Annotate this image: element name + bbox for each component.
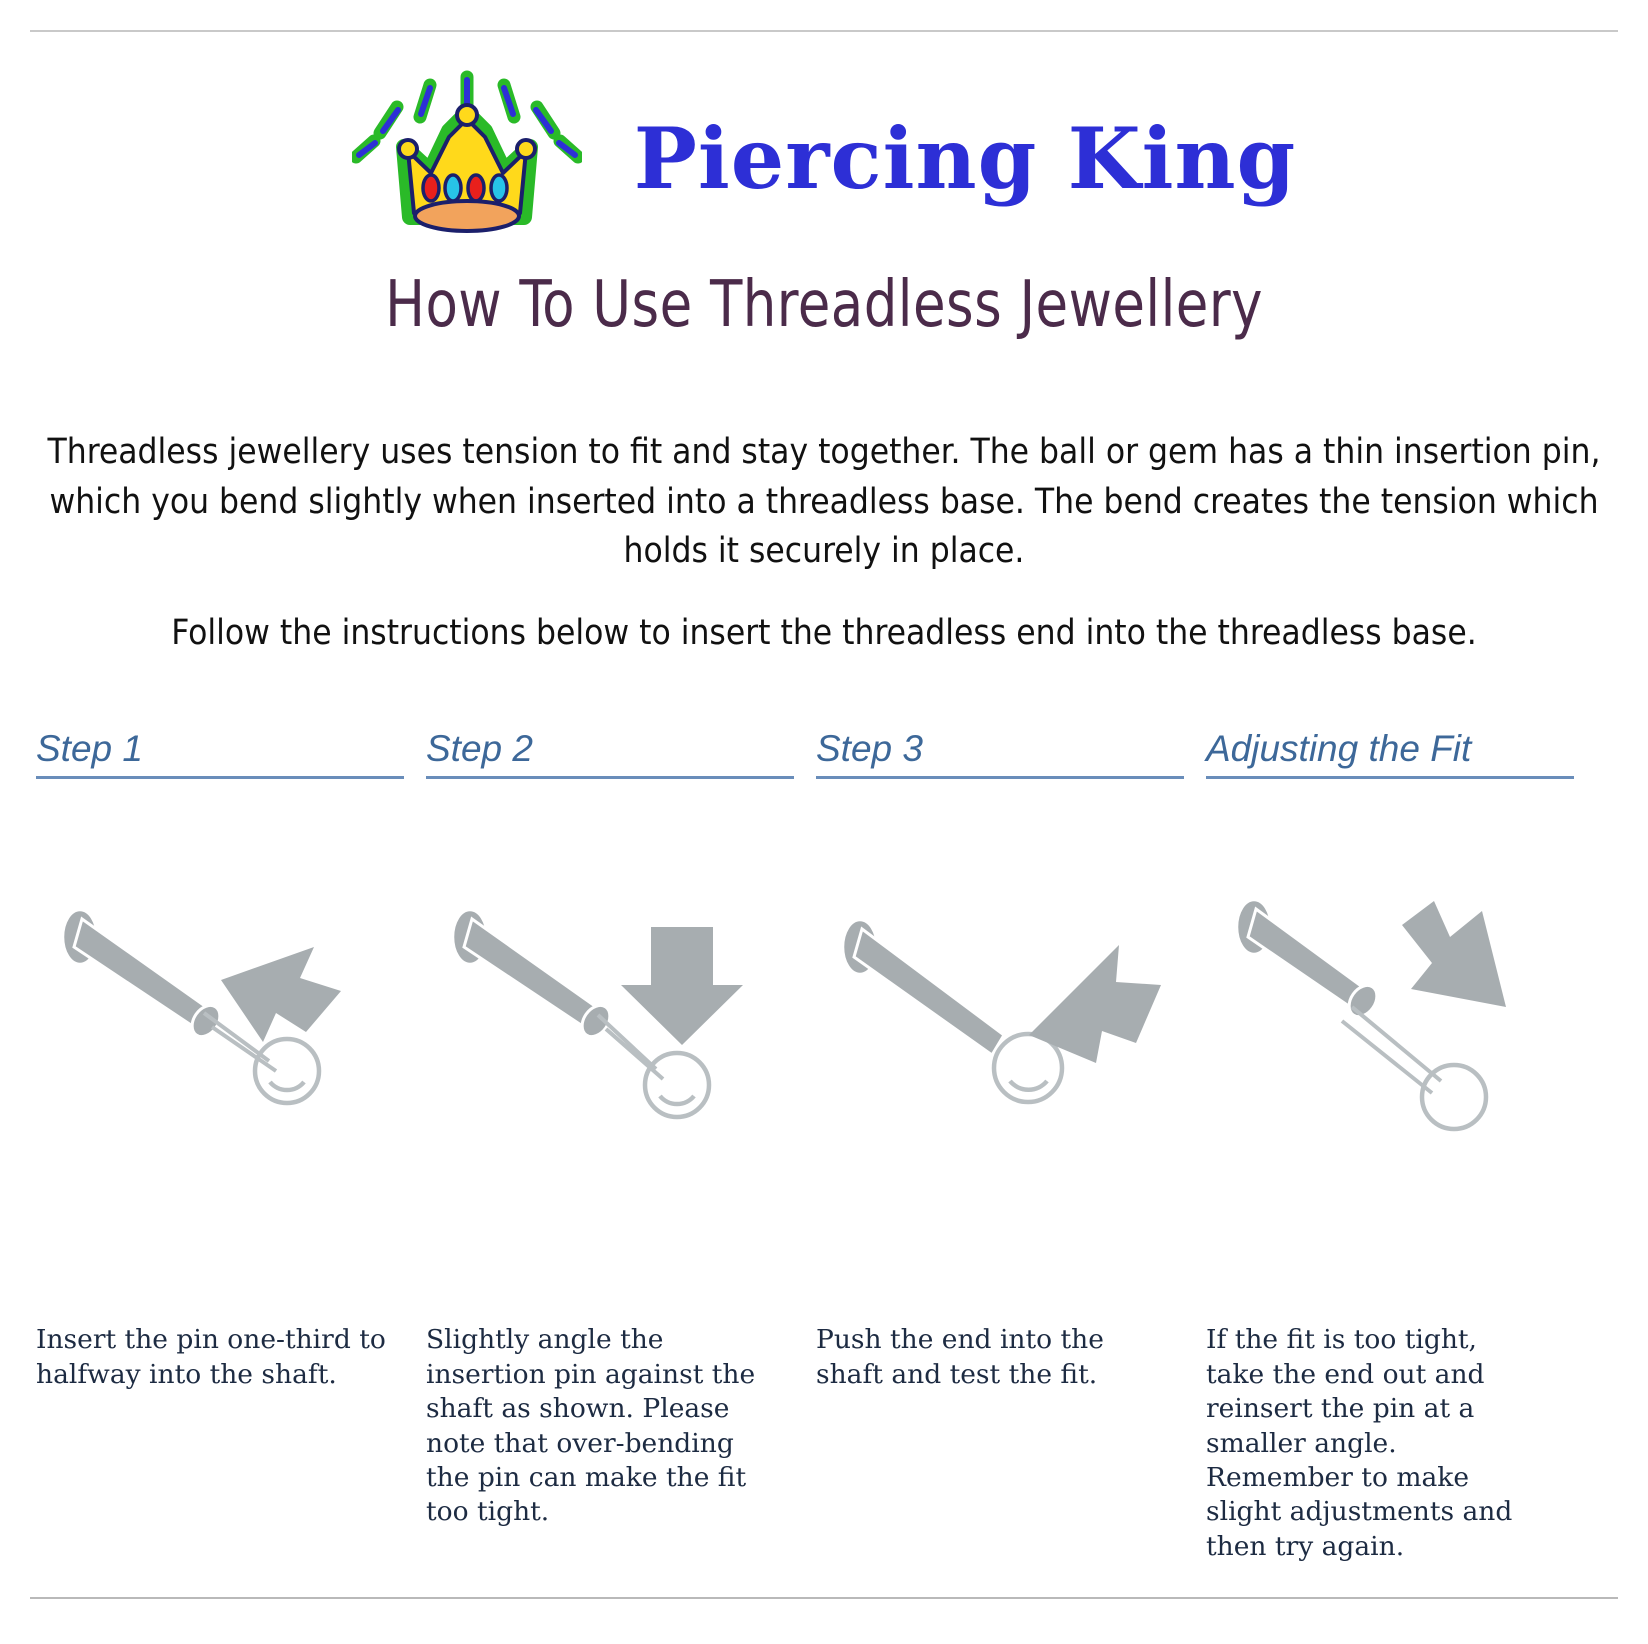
step-caption-1: Insert the pin one-third to halfway into… (36, 1323, 386, 1392)
arrow-down-icon (621, 927, 743, 1045)
step-figure-2 (426, 885, 794, 1315)
threadless-pin-arrow-upleft-icon (36, 885, 426, 1145)
step-column-3: Step 3 P (816, 726, 1206, 1564)
step-figure-4 (1206, 885, 1574, 1315)
step-column-1: Step 1 (36, 726, 426, 1564)
step-caption-4: If the fit is too tight, take the end ou… (1206, 1323, 1536, 1564)
page-title: How To Use Threadless Jewellery (66, 268, 1582, 342)
step-figure-1 (36, 885, 404, 1315)
top-divider (30, 30, 1618, 32)
masthead: Piercing King (0, 62, 1648, 242)
instruction-page: Piercing King How To Use Threadless Jewe… (0, 0, 1648, 1644)
step-caption-2: Slightly angle the insertion pin against… (426, 1323, 782, 1530)
step-heading-1: Step 1 (36, 726, 404, 779)
arrow-down-right-icon (1402, 901, 1506, 1007)
threadless-pin-arrow-upleft-icon (816, 885, 1206, 1145)
crown-icon (352, 69, 582, 239)
arrow-up-left-icon (221, 947, 341, 1042)
arrow-up-left-icon (1029, 945, 1161, 1063)
threadless-pin-arrow-downright-icon (1206, 885, 1596, 1145)
step-caption-3: Push the end into the shaft and test the… (816, 1323, 1166, 1392)
steps-row: Step 1 (36, 726, 1616, 1564)
bottom-divider (30, 1597, 1618, 1599)
intro-paragraph-2: Follow the instructions below to insert … (44, 609, 1604, 659)
step-heading-4: Adjusting the Fit (1206, 726, 1574, 779)
step-column-4: Adjusting the Fit (1206, 726, 1596, 1564)
step-figure-3 (816, 885, 1184, 1315)
threadless-pin-arrow-down-icon (426, 885, 816, 1145)
intro-text: Threadless jewellery uses tension to fit… (44, 428, 1604, 659)
step-heading-2: Step 2 (426, 726, 794, 779)
step-column-2: Step 2 (426, 726, 816, 1564)
step-heading-3: Step 3 (816, 726, 1184, 779)
intro-paragraph-1: Threadless jewellery uses tension to fit… (44, 428, 1604, 577)
brand-name: Piercing King (634, 117, 1297, 201)
